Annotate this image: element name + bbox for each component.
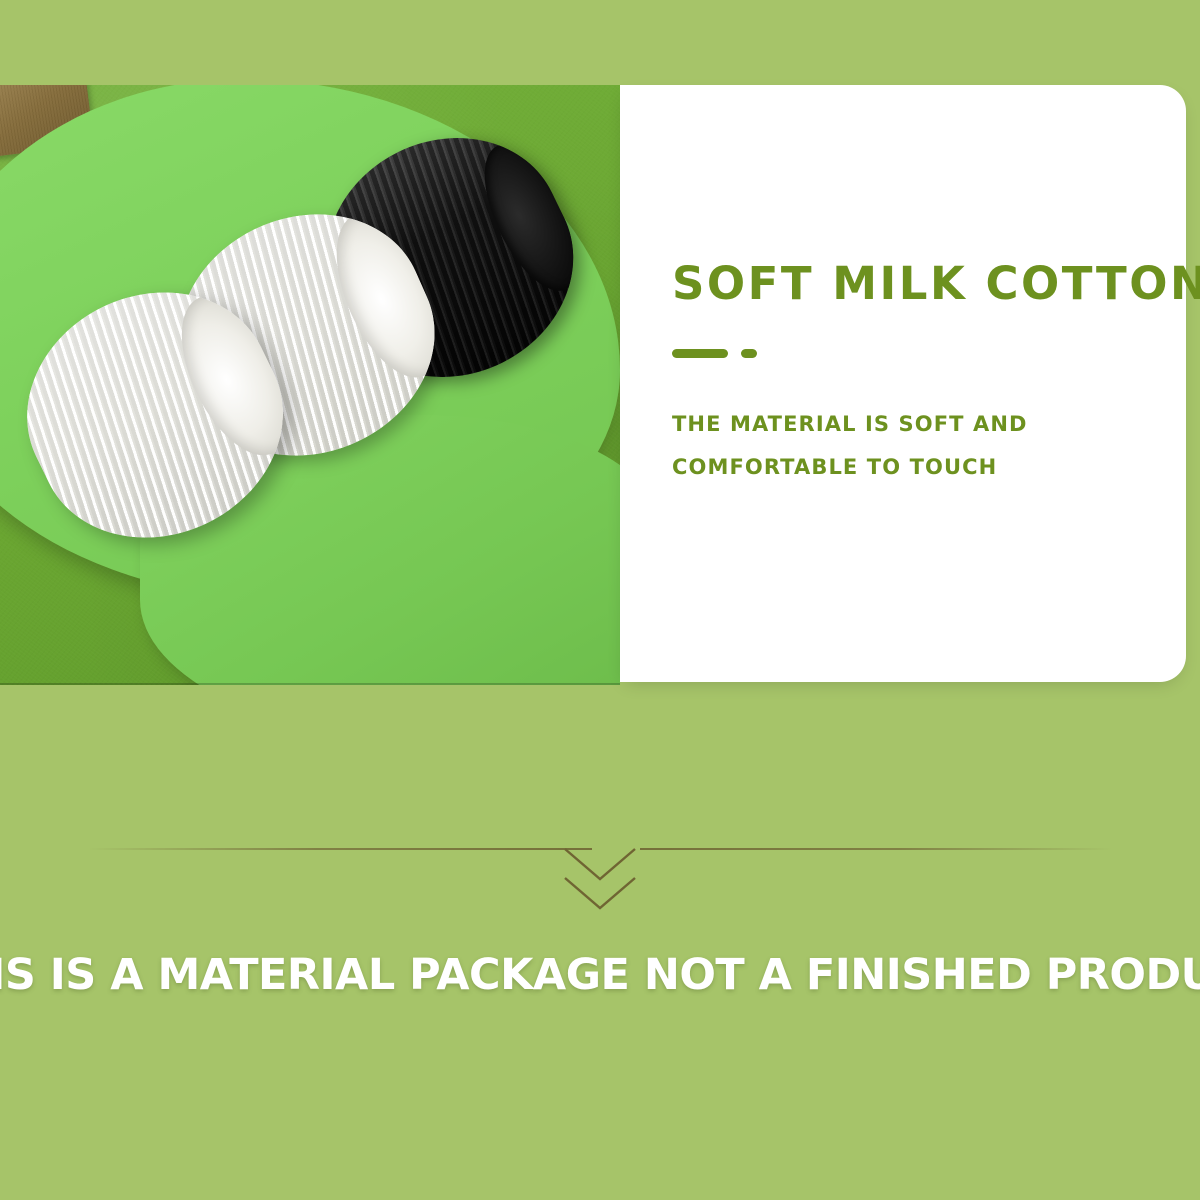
headline: SOFT MILK COTTON <box>672 257 1200 310</box>
product-photo <box>0 85 620 685</box>
divider-dot <box>741 349 757 358</box>
hero-section: SOFT MILK COTTON THE MATERIAL IS SOFT AN… <box>0 85 1200 685</box>
headline-divider <box>672 349 757 358</box>
divider-dash <box>672 349 728 358</box>
disclaimer-text: ~THIS IS A MATERIAL PACKAGE NOT A FINISH… <box>0 950 1200 1000</box>
chevron-down-icon <box>563 876 637 912</box>
subheadline-line-2: COMFORTABLE TO TOUCH <box>672 446 1028 489</box>
product-info-graphic: SOFT MILK COTTON THE MATERIAL IS SOFT AN… <box>0 0 1200 1200</box>
photo-bottom-shadow <box>0 683 620 685</box>
feature-text-card: SOFT MILK COTTON THE MATERIAL IS SOFT AN… <box>620 85 1186 682</box>
subheadline: THE MATERIAL IS SOFT AND COMFORTABLE TO … <box>672 403 1028 489</box>
subheadline-line-1: THE MATERIAL IS SOFT AND <box>672 403 1028 446</box>
divider-rule-left <box>88 848 592 850</box>
divider-rule-right <box>640 848 1112 850</box>
disclaimer-banner: ~THIS IS A MATERIAL PACKAGE NOT A FINISH… <box>0 940 1200 1010</box>
section-divider <box>0 820 1200 930</box>
